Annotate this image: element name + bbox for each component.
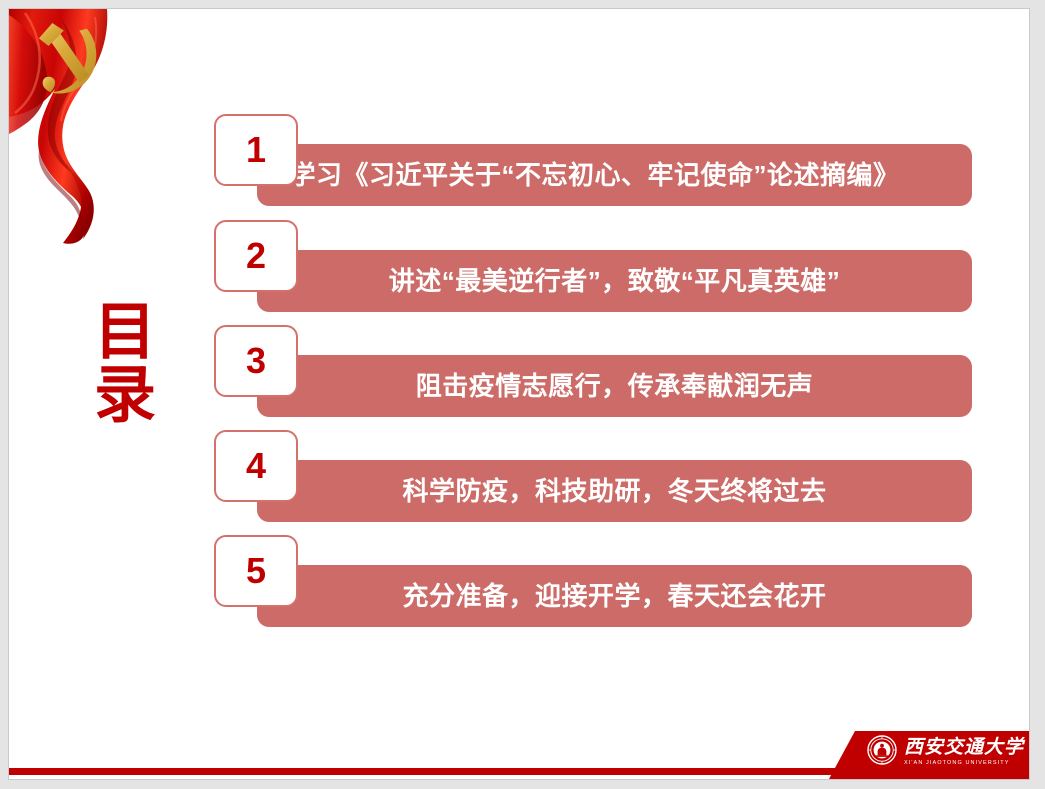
university-seal-icon [867,735,897,770]
page-title: 目 录 [71,301,181,427]
toc-item-bar[interactable]: 阻击疫情志愿行，传承奉献润无声 [257,355,972,417]
hammer-and-sickle-icon [39,23,96,94]
toc-item-number-box: 4 [214,430,298,502]
toc-item-number: 5 [216,537,296,605]
toc-item-number-box: 1 [214,114,298,186]
page-title-char-2: 录 [71,364,181,427]
toc-item-number-box: 2 [214,220,298,292]
toc-item-bar[interactable]: 科学防疫，科技助研，冬天终将过去 [257,460,972,522]
toc-item-1[interactable]: 学习《习近平关于“不忘初心、牢记使命”论述摘编》 1 [214,114,1004,219]
toc-item-bar[interactable]: 充分准备，迎接开学，春天还会花开 [257,565,972,627]
university-name-en: XI'AN JIAOTONG UNIVERSITY [904,760,1024,767]
toc-item-label: 学习《习近平关于“不忘初心、牢记使命”论述摘编》 [212,144,977,206]
screenshot-root: 目 录 学习《习近平关于“不忘初心、牢记使命”论述摘编》 1 讲述“最美逆行者”… [0,0,1045,789]
toc-item-label: 充分准备，迎接开学，春天还会花开 [257,565,972,627]
university-name-cn: 西安交通大学 [904,738,1024,758]
toc-item-bar[interactable]: 讲述“最美逆行者”，致敬“平凡真英雄” [257,250,972,312]
toc-item-number: 2 [216,222,296,290]
toc-item-3[interactable]: 阻击疫情志愿行，传承奉献润无声 3 [214,325,1004,430]
page-title-char-1: 目 [71,301,181,364]
toc-item-number-box: 3 [214,325,298,397]
toc-item-2[interactable]: 讲述“最美逆行者”，致敬“平凡真英雄” 2 [214,220,1004,325]
toc-item-4[interactable]: 科学防疫，科技助研，冬天终将过去 4 [214,430,1004,535]
toc-item-number-box: 5 [214,535,298,607]
toc-item-label: 讲述“最美逆行者”，致敬“平凡真英雄” [257,250,972,312]
footer-divider [9,768,841,775]
toc-item-bar[interactable]: 学习《习近平关于“不忘初心、牢记使命”论述摘编》 [257,144,972,206]
toc-item-5[interactable]: 充分准备，迎接开学，春天还会花开 5 [214,535,1004,640]
toc-item-label: 科学防疫，科技助研，冬天终将过去 [257,460,972,522]
toc-item-number: 4 [216,432,296,500]
red-party-flag [9,9,121,247]
footer-logo-banner: 西安交通大学 XI'AN JIAOTONG UNIVERSITY [829,731,1030,779]
presentation-slide: 目 录 学习《习近平关于“不忘初心、牢记使命”论述摘编》 1 讲述“最美逆行者”… [8,8,1030,780]
toc-item-number: 3 [216,327,296,395]
toc-item-number: 1 [216,116,296,184]
toc-item-label: 阻击疫情志愿行，传承奉献润无声 [257,355,972,417]
